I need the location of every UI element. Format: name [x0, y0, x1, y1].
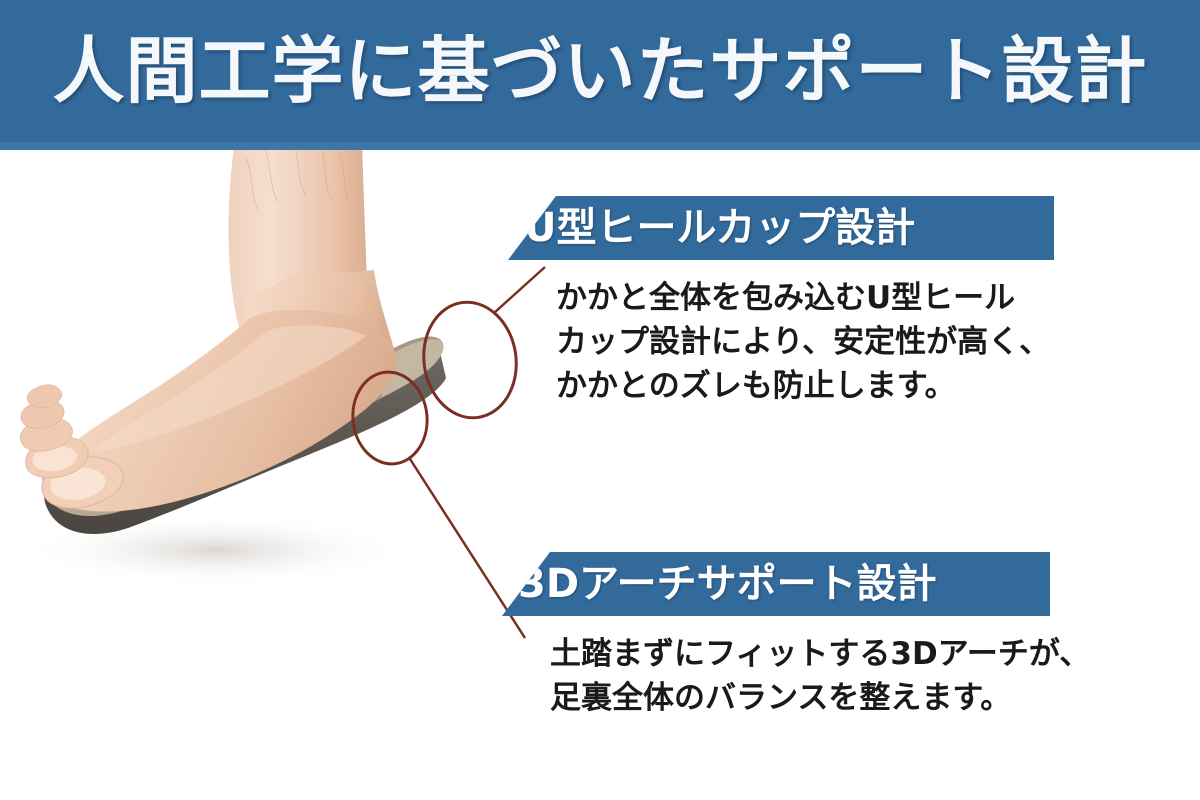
- callout-heel-cup-line-3: かかとのズレも防止します。: [556, 364, 1054, 408]
- callout-heel-cup: U型ヒールカップ設計 かかと全体を包み込むU型ヒール カップ設計により、安定性が…: [508, 196, 1054, 408]
- page-title: 人間工学に基づいたサポート設計: [0, 0, 1200, 142]
- callout-heel-cup-heading: U型ヒールカップ設計: [524, 208, 915, 248]
- header-band: 人間工学に基づいたサポート設計: [0, 0, 1200, 150]
- callout-arch-support-line-1: 土踏まずにフィットする3Dアーチが、: [550, 632, 1050, 676]
- callout-arch-support-banner: 3Dアーチサポート設計: [502, 552, 1050, 616]
- callout-heel-cup-line-1: かかと全体を包み込むU型ヒール: [556, 276, 1054, 320]
- callout-arch-support-body: 土踏まずにフィットする3Dアーチが、 足裏全体のバランスを整えます。: [502, 632, 1050, 720]
- foot-on-sandal-photo: [0, 150, 520, 800]
- callout-arch-support-heading: 3Dアーチサポート設計: [518, 564, 937, 604]
- callout-heel-cup-line-2: カップ設計により、安定性が高く、: [556, 320, 1054, 364]
- foot-sandal-illustration: [0, 150, 520, 800]
- callout-arch-support: 3Dアーチサポート設計 土踏まずにフィットする3Dアーチが、 足裏全体のバランス…: [502, 552, 1050, 720]
- callout-heel-cup-banner: U型ヒールカップ設計: [508, 196, 1054, 260]
- product-feature-infographic: 人間工学に基づいたサポート設計: [0, 0, 1200, 800]
- callout-arch-support-line-2: 足裏全体のバランスを整えます。: [550, 676, 1050, 720]
- callout-heel-cup-body: かかと全体を包み込むU型ヒール カップ設計により、安定性が高く、 かかとのズレも…: [508, 276, 1054, 408]
